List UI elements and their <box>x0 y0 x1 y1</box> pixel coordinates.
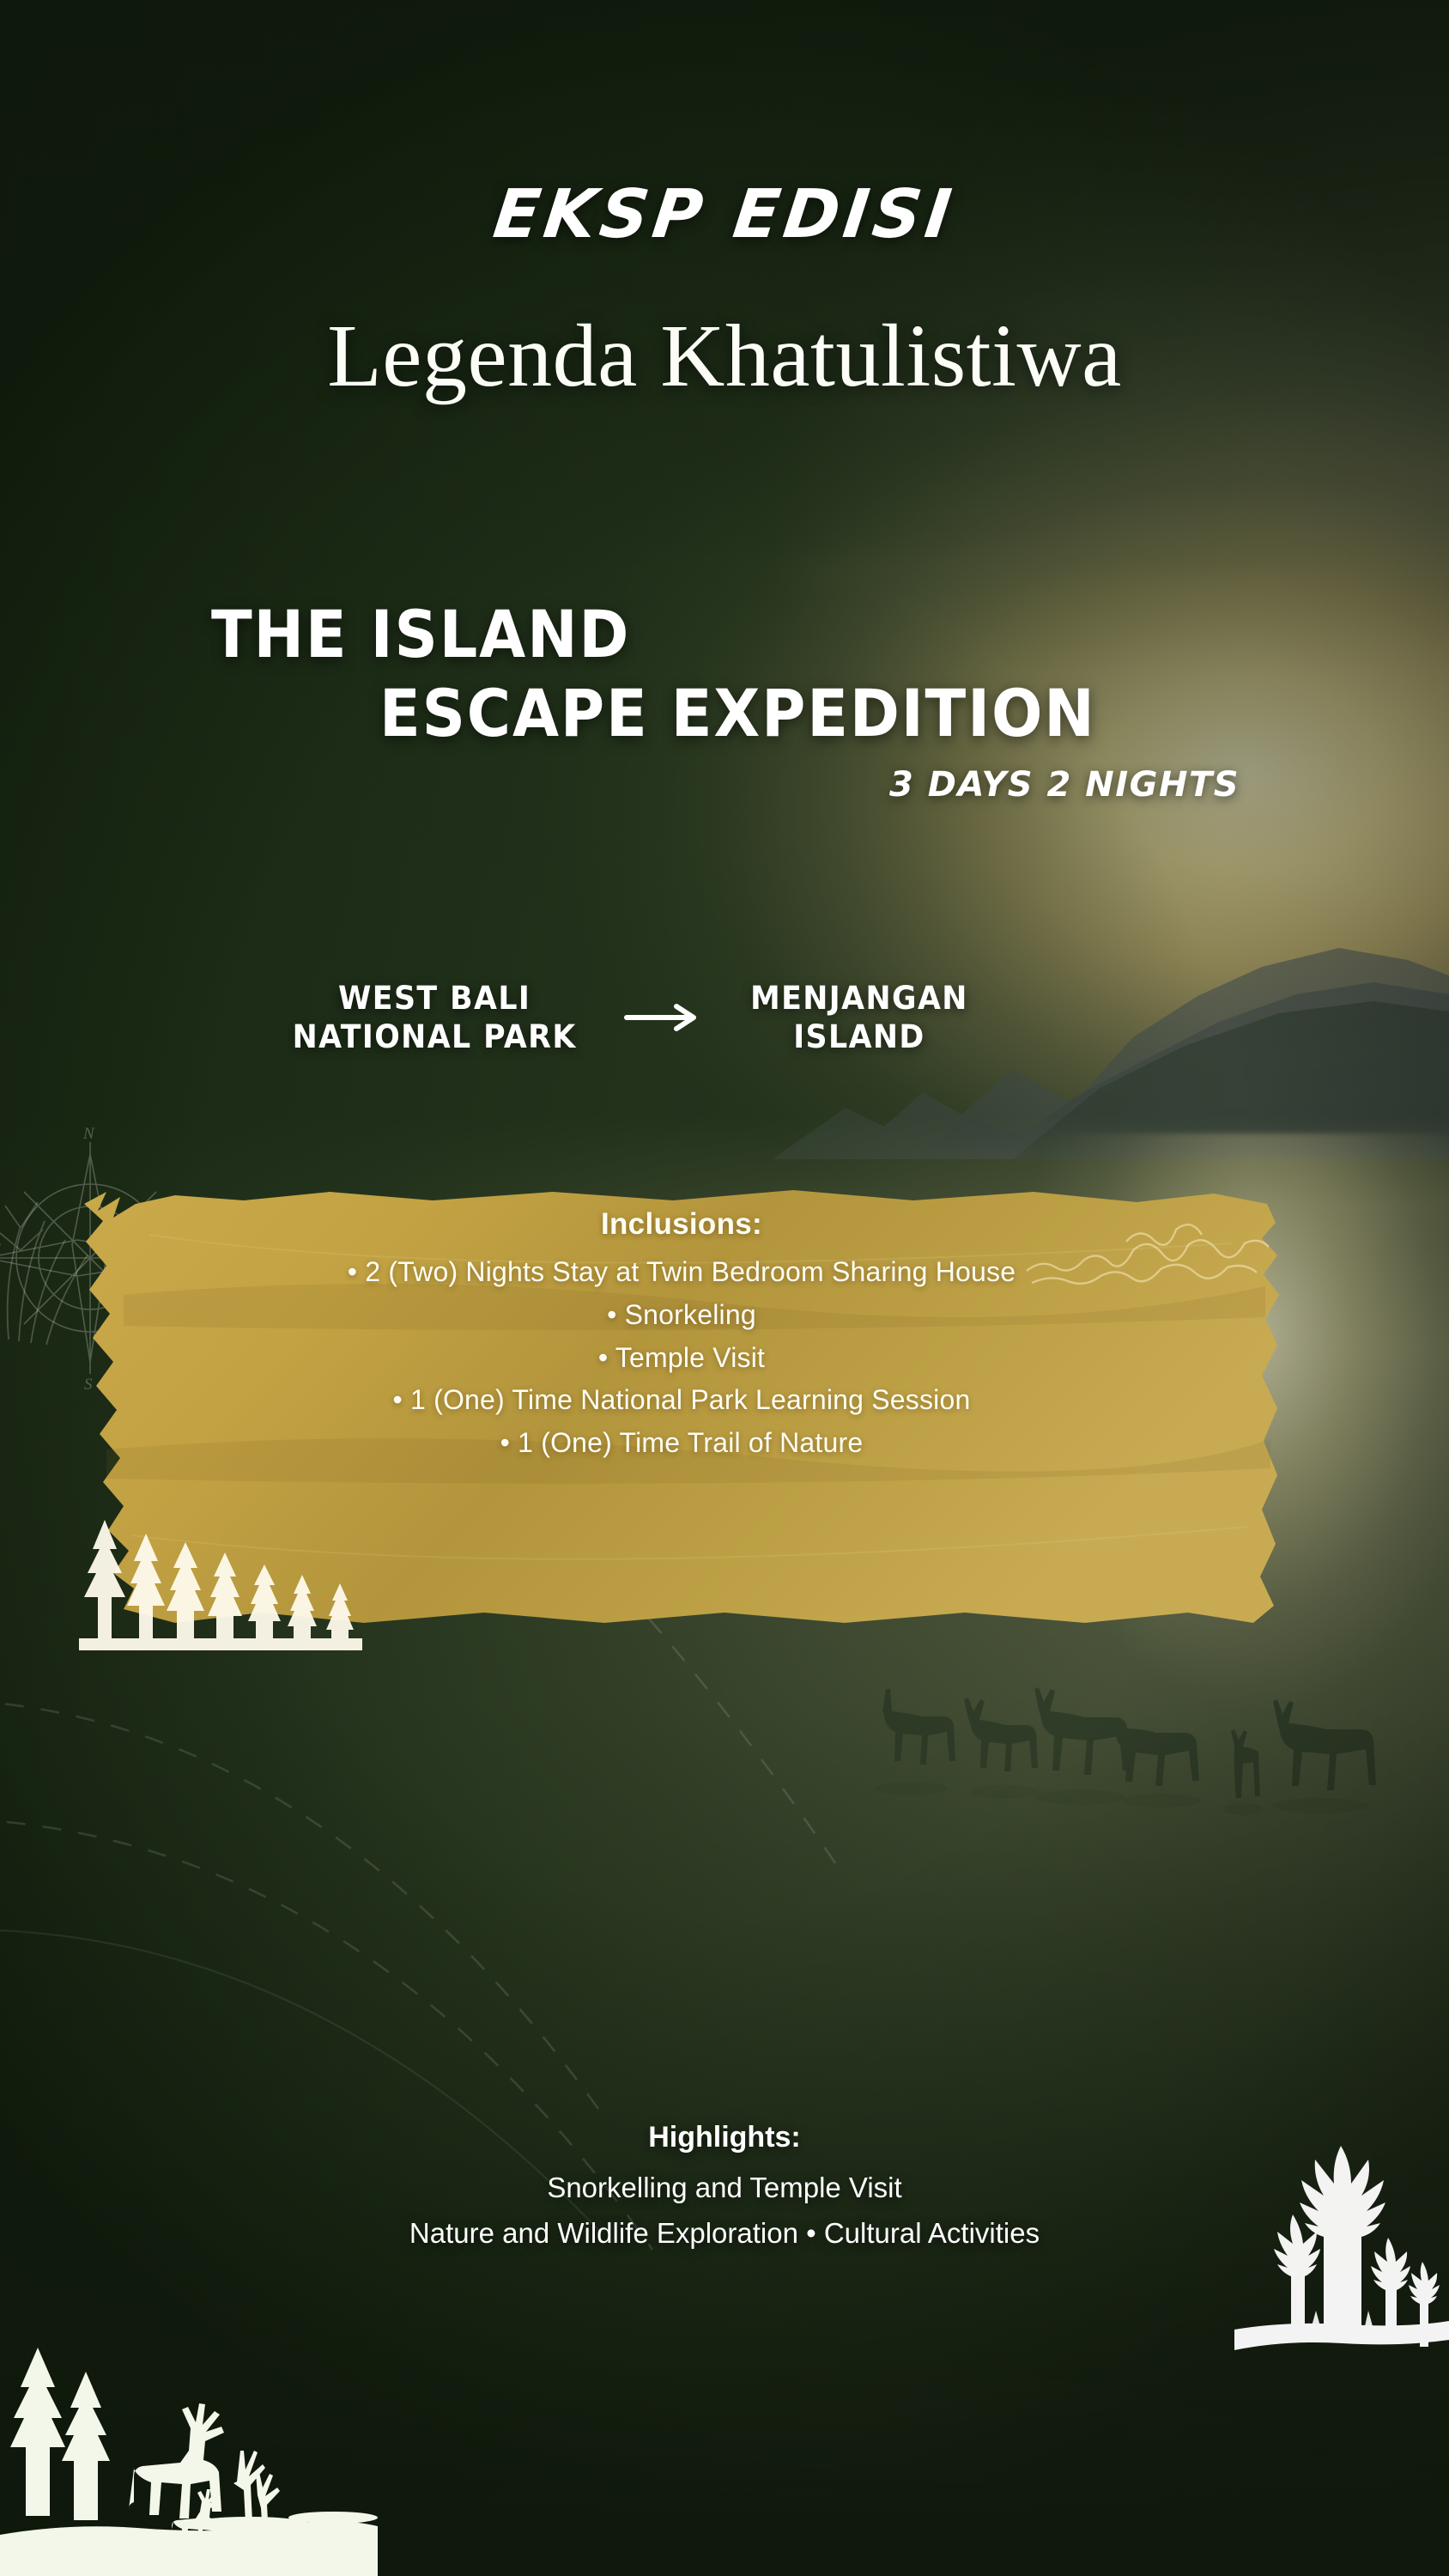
duration-label: 3 DAYS 2 NIGHTS <box>889 765 1241 805</box>
highlight-line: Snorkelling and Temple Visit <box>0 2170 1449 2207</box>
package-title-line2: ESCAPE EXPEDITION <box>379 680 1173 747</box>
inclusions-title: Inclusions: <box>124 1207 1240 1242</box>
route-destination-line2: ISLAND <box>750 1018 968 1056</box>
title-block: THE ISLAND ESCAPE EXPEDITION 3 DAYS 2 NI… <box>211 601 1241 805</box>
route-origin-line2: NATIONAL PARK <box>293 1018 577 1056</box>
inclusion-item: • Temple Visit <box>124 1343 1240 1374</box>
route-row: WEST BALI NATIONAL PARK MENJANGAN ISLAND <box>283 979 1176 1056</box>
grass-lineart <box>0 1108 172 1348</box>
inclusion-item: • 1 (One) Time National Park Learning Se… <box>124 1385 1240 1416</box>
package-title-line1: THE ISLAND <box>211 601 1159 668</box>
route-destination-line1: MENJANGAN <box>750 979 968 1018</box>
travel-poster: N W S EKSP EDISI Legenda Khatulistiwa TH… <box>0 0 1449 2576</box>
inclusions-panel: Inclusions: • 2 (Two) Nights Stay at Twi… <box>72 1166 1291 1647</box>
inclusion-item: • 1 (One) Time Trail of Nature <box>124 1428 1240 1459</box>
route-origin-line1: WEST BALI <box>293 979 577 1018</box>
eyebrow-label: EKSP EDISI <box>0 176 1449 253</box>
brand-title: Legenda Khatulistiwa <box>0 305 1449 407</box>
highlights-section: Highlights: Snorkelling and Temple Visit… <box>0 2121 1449 2261</box>
highlight-line: Nature and Wildlife Exploration • Cultur… <box>0 2215 1449 2252</box>
inclusions-content: Inclusions: • 2 (Two) Nights Stay at Twi… <box>72 1207 1291 1471</box>
stag-forest-lineart <box>0 2318 378 2576</box>
inclusion-item: • Snorkeling <box>124 1300 1240 1331</box>
route-origin: WEST BALI NATIONAL PARK <box>293 979 577 1056</box>
arrow-right-icon <box>623 1000 706 1035</box>
route-destination: MENJANGAN ISLAND <box>750 979 968 1056</box>
inclusion-item: • 2 (Two) Nights Stay at Twin Bedroom Sh… <box>124 1257 1240 1288</box>
highlights-title: Highlights: <box>0 2121 1449 2154</box>
pine-trees-lineart <box>1234 2108 1449 2366</box>
